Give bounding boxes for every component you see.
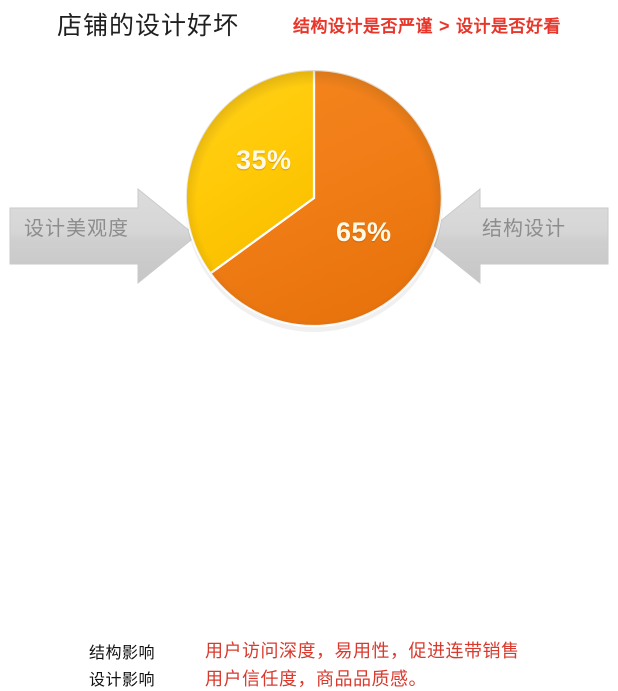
- arrow-right-label: 结构设计: [482, 212, 566, 241]
- footer-notes: 结构影响 设计影响 用户访问深度，易用性，促进连带销售 用户信任度，商品品质感。: [0, 318, 618, 388]
- pie-label-design-aesthetics: 35%: [236, 145, 292, 176]
- footer-value-design-impact: 用户信任度，商品品质感。: [205, 665, 427, 691]
- subtitle-right-text: 设计是否好看: [456, 17, 561, 36]
- pie-chart-svg: [178, 60, 450, 338]
- page-title: 店铺的设计好坏: [57, 10, 239, 42]
- pie-chart: [178, 60, 450, 338]
- arrow-left-label: 设计美观度: [24, 212, 129, 241]
- pie-label-structure-design: 65%: [336, 217, 392, 248]
- footer-value-structure-impact: 用户访问深度，易用性，促进连带销售: [205, 637, 520, 663]
- subtitle-left-text: 结构设计是否严谨: [293, 17, 433, 36]
- subtitle-comparison: 结构设计是否严谨>设计是否好看: [293, 14, 561, 39]
- footer-key-design-impact: 设计影响: [89, 666, 155, 690]
- greater-than-icon: >: [433, 14, 456, 38]
- footer-key-structure-impact: 结构影响: [89, 639, 155, 663]
- infographic-canvas: 店铺的设计好坏 结构设计是否严谨>设计是否好看 设计美观度: [0, 0, 618, 405]
